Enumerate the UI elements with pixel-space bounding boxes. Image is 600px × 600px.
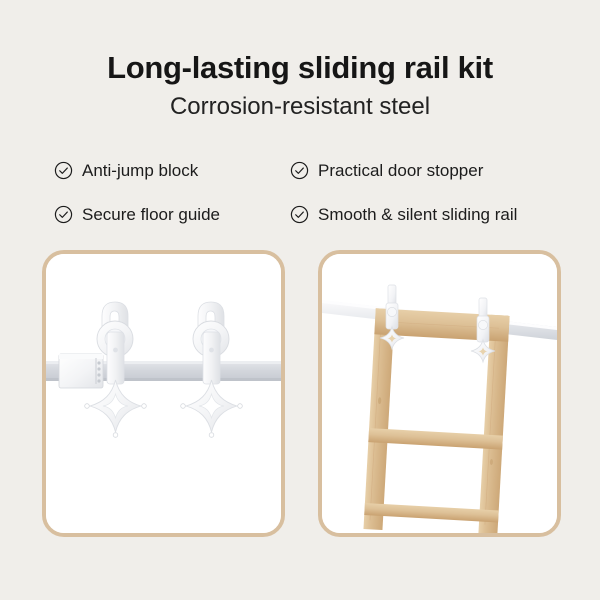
check-circle-icon — [290, 161, 309, 180]
feature-label: Smooth & silent sliding rail — [318, 206, 517, 223]
product-image-panel-hardware — [42, 250, 285, 537]
feature-item-practical-door-stopper: Practical door stopper — [290, 161, 570, 180]
feature-list: Anti-jump block Practical door stopper S… — [54, 148, 570, 236]
feature-item-secure-floor-guide: Secure floor guide — [54, 205, 290, 224]
check-circle-icon — [290, 205, 309, 224]
feature-item-anti-jump-block: Anti-jump block — [54, 161, 290, 180]
page-title: Long-lasting sliding rail kit — [0, 52, 600, 85]
check-circle-icon — [54, 205, 73, 224]
feature-item-smooth-silent-sliding-rail: Smooth & silent sliding rail — [290, 205, 570, 224]
check-circle-icon — [54, 161, 73, 180]
page-subtitle: Corrosion-resistant steel — [0, 94, 600, 120]
feature-label: Secure floor guide — [82, 206, 220, 223]
header: Long-lasting sliding rail kit Corrosion-… — [0, 0, 600, 120]
rail-end-stopper — [59, 354, 103, 388]
feature-label: Practical door stopper — [318, 162, 483, 179]
product-image-panel-door — [318, 250, 561, 537]
hardware-illustration — [46, 254, 281, 533]
door-installation-illustration — [322, 254, 557, 533]
feature-label: Anti-jump block — [82, 162, 198, 179]
